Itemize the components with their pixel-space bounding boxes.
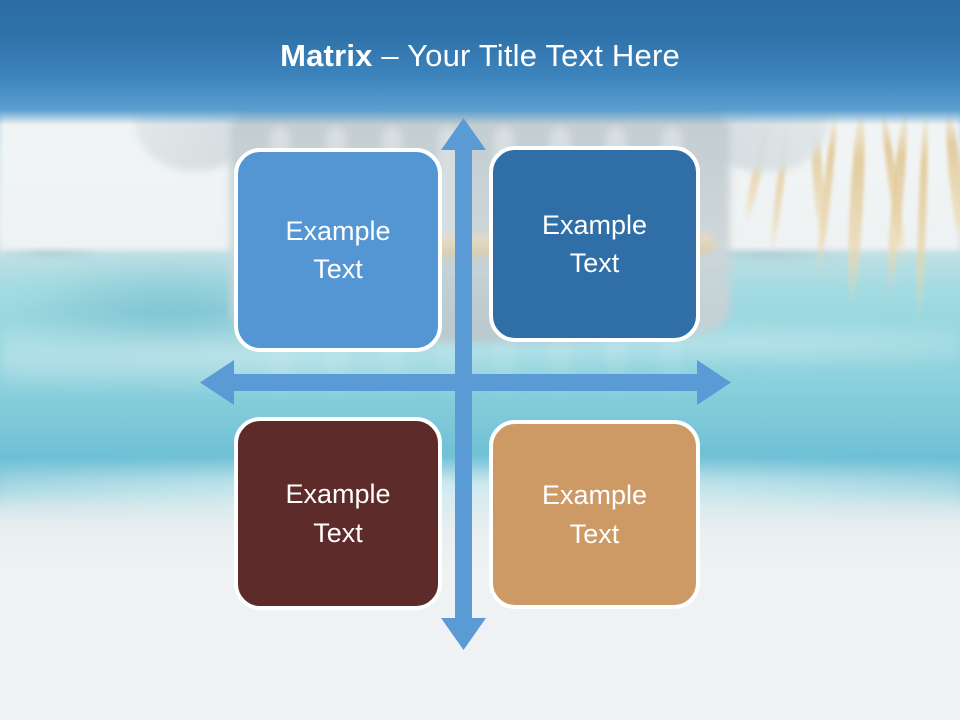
quadrant-label-bottom-left: Example Text — [285, 475, 390, 552]
palm-frond-icon — [845, 108, 868, 308]
palm-frond-icon — [914, 108, 929, 323]
quadrant-label-top-left: Example Text — [285, 212, 390, 289]
palm-frond-icon — [942, 107, 960, 252]
quadrant-box-bottom-right[interactable]: Example Text — [489, 420, 700, 609]
background-surf-near — [0, 440, 960, 530]
quadrant-label-line2: Text — [542, 244, 647, 282]
slide-canvas: Matrix – Your Title Text Here Example Te… — [0, 0, 960, 720]
quadrant-label-line1: Example — [285, 475, 390, 513]
quadrant-box-top-left[interactable]: Example Text — [234, 148, 442, 352]
quadrant-label-line2: Text — [285, 514, 390, 552]
quadrant-label-line2: Text — [285, 250, 390, 288]
quadrant-box-bottom-left[interactable]: Example Text — [234, 417, 442, 610]
quadrant-box-top-right[interactable]: Example Text — [489, 146, 700, 342]
quadrant-label-line1: Example — [285, 212, 390, 250]
page-title-strong: Matrix — [280, 38, 373, 74]
quadrant-label-line1: Example — [542, 206, 647, 244]
page-title: Matrix – Your Title Text Here — [0, 0, 960, 112]
quadrant-label-line2: Text — [542, 515, 647, 553]
quadrant-label-bottom-right: Example Text — [542, 476, 647, 553]
page-title-rest: – Your Title Text Here — [373, 38, 680, 74]
quadrant-label-top-right: Example Text — [542, 206, 647, 283]
quadrant-label-line1: Example — [542, 476, 647, 514]
